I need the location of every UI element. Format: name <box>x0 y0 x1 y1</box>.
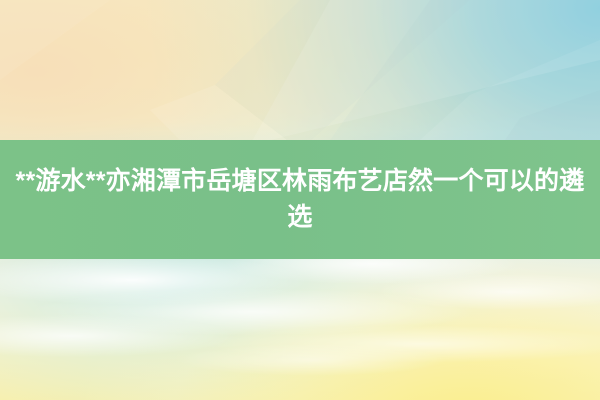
banner-image: **游水**亦湘潭市岳塘区林雨布艺店然一个可以的遴选 <box>0 0 600 400</box>
caption-banner: **游水**亦湘潭市岳塘区林雨布艺店然一个可以的遴选 <box>0 140 600 259</box>
caption-text: **游水**亦湘潭市岳塘区林雨布艺店然一个可以的遴选 <box>14 164 586 235</box>
